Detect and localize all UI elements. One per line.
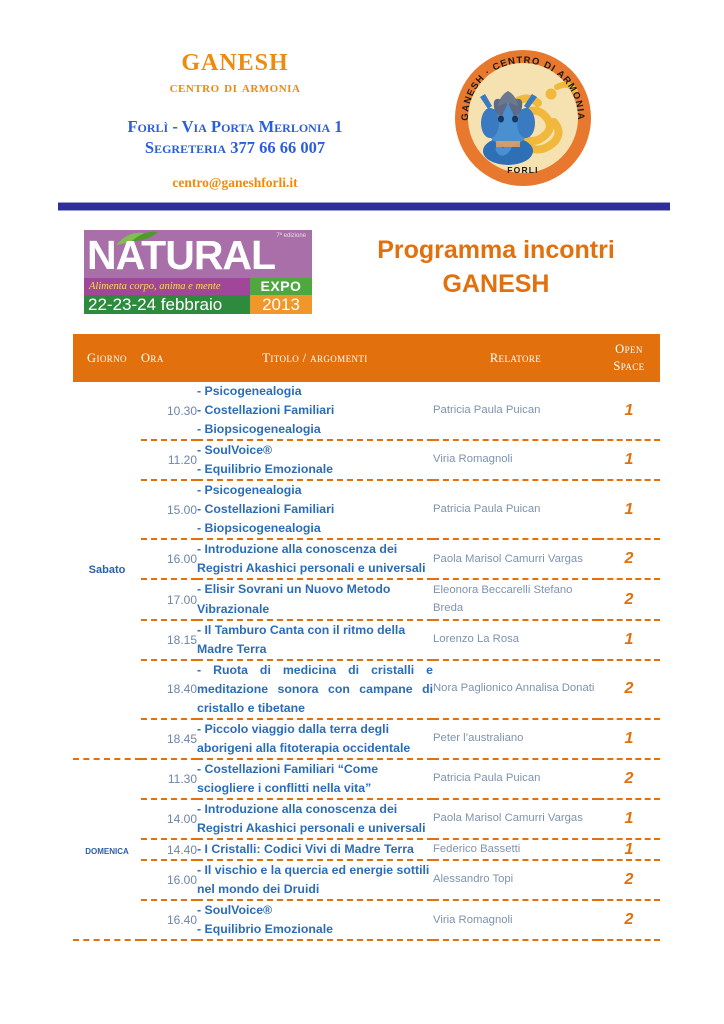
expo-logo-top: NATURAL 7ª edizione (84, 230, 312, 278)
row-time: 18.45 (141, 719, 197, 759)
letterhead: Ganesh Centro di Armonia Forlì - Via Por… (0, 0, 724, 196)
row-title: - Piccolo viaggio dalla terra degli abor… (197, 719, 433, 759)
page-title-line1: Programma incontri (326, 234, 666, 268)
table-row: 18.45- Piccolo viaggio dalla terra degli… (73, 719, 660, 759)
row-time: 16.00 (141, 860, 197, 900)
row-open-space: 2 (598, 759, 660, 799)
row-title: - SoulVoice®- Equilibrio Emozionale (197, 900, 433, 940)
table-row: 14.40- I Cristalli: Codici Vivi di Madre… (73, 839, 660, 860)
table-row: 16.40- SoulVoice®- Equilibrio Emozionale… (73, 900, 660, 940)
column-header-giorno: Giorno (73, 334, 141, 382)
row-open-space: 1 (598, 480, 660, 539)
row-open-space: 1 (598, 620, 660, 660)
table-row: Domenica11.30- Costellazioni Familiari “… (73, 759, 660, 799)
column-header-open-space: Open Space (598, 334, 660, 382)
brand-subtitle: Centro di Armonia (0, 79, 470, 97)
row-title: - Introduzione alla conoscenza dei Regis… (197, 539, 433, 579)
brand-title: Ganesh (0, 42, 470, 78)
table-row: 17.00- Elisir Sovrani un Nuovo Metodo Vi… (73, 579, 660, 619)
table-row: 14.00- Introduzione alla conoscenza dei … (73, 799, 660, 839)
row-title: - Psicogenealogia- Costellazioni Familia… (197, 382, 433, 440)
brand-phone: Segreteria 377 66 66 007 (0, 138, 470, 159)
table-bottom-rule-cell (197, 940, 433, 944)
open-space-line2: Space (613, 359, 644, 373)
row-time: 14.00 (141, 799, 197, 839)
row-open-space: 2 (598, 539, 660, 579)
row-relator: Patricia Paula Puican (433, 480, 598, 539)
row-time: 10.30 (141, 382, 197, 440)
row-open-space: 1 (598, 839, 660, 860)
row-time: 11.30 (141, 759, 197, 799)
row-open-space: 2 (598, 579, 660, 619)
open-space-line1: Open (615, 342, 643, 356)
brand-email[interactable]: centro@ganeshforli.it (0, 175, 470, 191)
row-relator: Paola Marisol Camurri Vargas (433, 799, 598, 839)
table-row: 15.00- Psicogenealogia- Costellazioni Fa… (73, 480, 660, 539)
row-relator: Viria Romagnoli (433, 900, 598, 940)
row-title: - Il vischio e la quercia ed energie sot… (197, 860, 433, 900)
expo-badge: EXPO (250, 278, 312, 295)
row-title: - Ruota di medicina di cristalli e medit… (197, 660, 433, 719)
expo-year: 2013 (250, 295, 312, 314)
row-relator: Peter l’australiano (433, 719, 598, 759)
table-bottom-rule-cell (433, 940, 598, 944)
expo-date-row: 22-23-24 febbraio 2013 (84, 295, 312, 314)
row-time: 16.00 (141, 539, 197, 579)
row-open-space: 1 (598, 440, 660, 480)
column-header-relatore: Relatore (433, 334, 598, 382)
header-divider-rule (58, 202, 670, 211)
row-time: 11.20 (141, 440, 197, 480)
row-open-space: 2 (598, 660, 660, 719)
row-time: 18.40 (141, 660, 197, 719)
expo-dates: 22-23-24 febbraio (84, 295, 250, 314)
row-title: - Il Tamburo Canta con il ritmo della Ma… (197, 620, 433, 660)
row-relator: Viria Romagnoli (433, 440, 598, 480)
brand-address: Forlì - Via Porta Merlonia 1 (0, 117, 470, 138)
table-bottom-rule (73, 940, 660, 944)
page-title-line2: GANESH (326, 268, 666, 302)
row-relator: Alessandro Topi (433, 860, 598, 900)
table-row: Sabato10.30- Psicogenealogia- Costellazi… (73, 382, 660, 440)
expo-tagline: Alimenta corpo, anima e mente (84, 278, 250, 295)
table-header: Giorno Ora Titolo / argomenti Relatore O… (73, 334, 660, 382)
row-relator: Patricia Paula Puican (433, 382, 598, 440)
table-row: 18.15- Il Tamburo Canta con il ritmo del… (73, 620, 660, 660)
row-time: 15.00 (141, 480, 197, 539)
row-title: - I Cristalli: Codici Vivi di Madre Terr… (197, 839, 433, 860)
row-time: 14.40 (141, 839, 197, 860)
ganesh-logo-icon: GANESH · CENTRO DI ARMONIA FORLI (452, 47, 594, 189)
row-title: - Psicogenealogia- Costellazioni Familia… (197, 480, 433, 539)
row-time: 18.15 (141, 620, 197, 660)
expo-tagline-row: Alimenta corpo, anima e mente EXPO (84, 278, 312, 295)
row-relator: Federico Bassetti (433, 839, 598, 860)
row-relator: Patricia Paula Puican (433, 759, 598, 799)
expo-wordmark: NATURAL (87, 233, 275, 277)
programme-table: Giorno Ora Titolo / argomenti Relatore O… (73, 334, 660, 944)
table-row: 16.00- Il vischio e la quercia ed energi… (73, 860, 660, 900)
row-title: - Introduzione alla conoscenza dei Regis… (197, 799, 433, 839)
day-label: Sabato (73, 382, 141, 759)
column-header-ora: Ora (141, 334, 197, 382)
row-relator: Eleonora Beccarelli Stefano Breda (433, 579, 598, 619)
row-relator: Lorenzo La Rosa (433, 620, 598, 660)
ganesh-figure-icon (480, 91, 537, 165)
brand-block: Ganesh Centro di Armonia Forlì - Via Por… (0, 42, 470, 191)
row-relator: Nora Paglionico Annalisa Donati (433, 660, 598, 719)
table-header-row: Giorno Ora Titolo / argomenti Relatore O… (73, 334, 660, 382)
row-time: 16.40 (141, 900, 197, 940)
expo-edition-label: 7ª edizione (276, 233, 306, 239)
page-title: Programma incontri GANESH (326, 234, 666, 302)
ganesh-logo: GANESH · CENTRO DI ARMONIA FORLI (452, 47, 594, 189)
day-label: Domenica (73, 759, 141, 940)
table-body: Sabato10.30- Psicogenealogia- Costellazi… (73, 382, 660, 944)
table-bottom-rule-cell (141, 940, 197, 944)
title-band: NATURAL 7ª edizione Alimenta corpo, anim… (0, 222, 724, 322)
row-open-space: 2 (598, 900, 660, 940)
natural-expo-logo: NATURAL 7ª edizione Alimenta corpo, anim… (84, 230, 312, 314)
row-title: - Costellazioni Familiari “Come scioglie… (197, 759, 433, 799)
table-bottom-rule-cell (598, 940, 660, 944)
row-time: 17.00 (141, 579, 197, 619)
row-title: - SoulVoice®- Equilibrio Emozionale (197, 440, 433, 480)
row-open-space: 2 (598, 860, 660, 900)
table-bottom-rule-cell (73, 940, 141, 944)
logo-city-text: FORLI (507, 165, 539, 175)
table-row: 11.20- SoulVoice®- Equilibrio Emozionale… (73, 440, 660, 480)
row-open-space: 1 (598, 799, 660, 839)
table-row: 16.00- Introduzione alla conoscenza dei … (73, 539, 660, 579)
row-open-space: 1 (598, 382, 660, 440)
row-title: - Elisir Sovrani un Nuovo Metodo Vibrazi… (197, 579, 433, 619)
table-row: 18.40- Ruota di medicina di cristalli e … (73, 660, 660, 719)
row-relator: Paola Marisol Camurri Vargas (433, 539, 598, 579)
column-header-titolo: Titolo / argomenti (197, 334, 433, 382)
row-open-space: 1 (598, 719, 660, 759)
